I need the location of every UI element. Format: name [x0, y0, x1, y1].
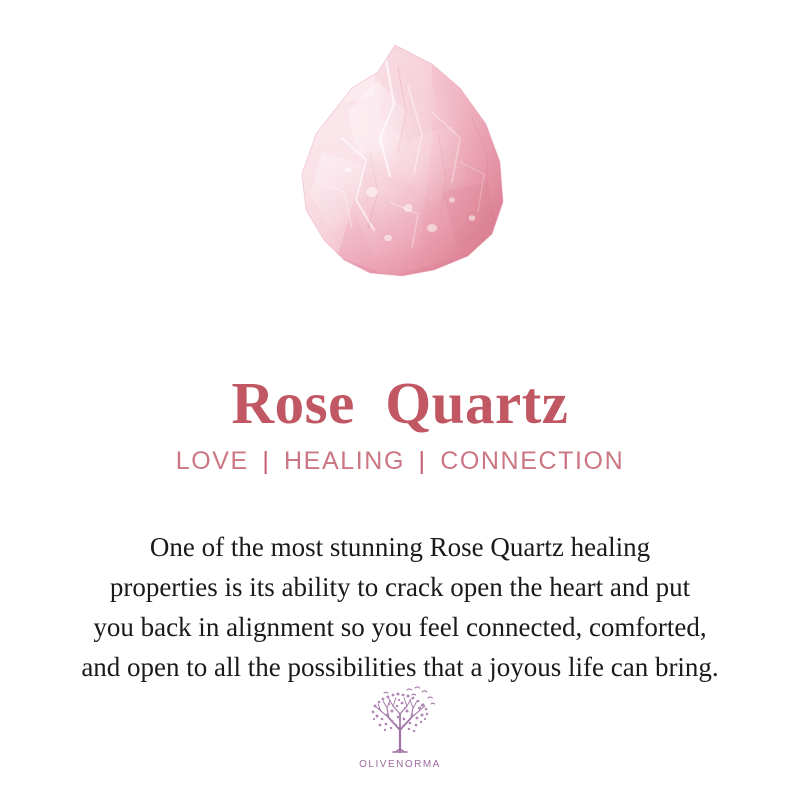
keyword-separator: |: [257, 447, 275, 475]
description-line: properties is its ability to crack open …: [0, 567, 800, 607]
page-title: Rose Quartz: [0, 372, 800, 434]
description-paragraph: One of the most stunning Rose Quartz hea…: [0, 527, 800, 687]
brand-logo: OLIVENORMA: [350, 684, 450, 782]
tree-of-life-icon: [363, 684, 437, 756]
description-line: you back in alignment so you feel connec…: [0, 607, 800, 647]
keyword-list: LOVE | HEALING | CONNECTION: [0, 446, 800, 476]
keyword-connection: CONNECTION: [440, 447, 624, 475]
brand-name: OLIVENORMA: [359, 759, 441, 770]
product-image-area: [0, 0, 800, 300]
keyword-separator: |: [414, 447, 432, 475]
description-line: and open to all the possibilities that a…: [0, 647, 800, 687]
rose-quartz-crystal-icon: [282, 42, 518, 286]
description-line: One of the most stunning Rose Quartz hea…: [0, 527, 800, 567]
keyword-love: LOVE: [176, 447, 249, 475]
rose-quartz-info-card: Rose Quartz LOVE | HEALING | CONNECTION …: [0, 0, 800, 800]
keyword-healing: HEALING: [284, 447, 405, 475]
